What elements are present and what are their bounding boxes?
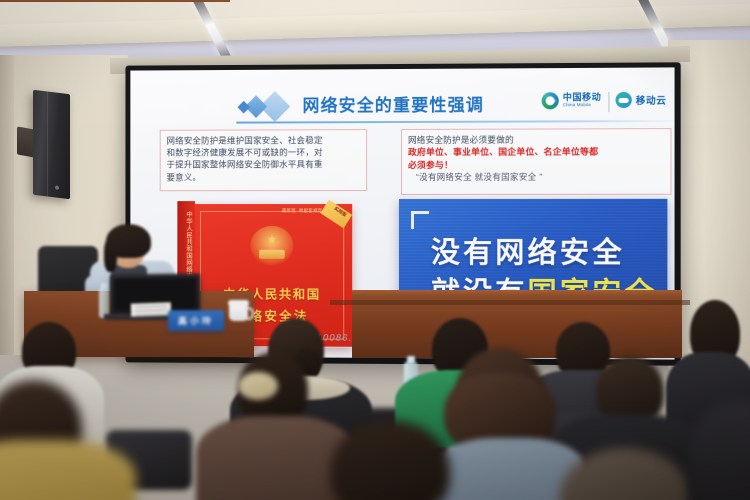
ecloud-logo: 移动云	[615, 92, 666, 108]
china-mobile-name-en: China Mobile	[563, 103, 602, 108]
podium-top-edge	[0, 0, 230, 2]
china-mobile-logo: 中国移动 China Mobile	[542, 92, 602, 109]
title-divider	[236, 120, 674, 124]
left-box-line: 和数字经济健康发展不可或缺的一环，对	[167, 146, 361, 159]
quote-line-1: 没有网络安全	[431, 229, 625, 271]
china-mobile-mark-icon	[542, 92, 559, 109]
right-text-box: 网络安全防护是必须要做的 政府单位、事业单位、国企单位、名企单位等都 必须参与！…	[401, 128, 671, 195]
tea-cup	[229, 304, 248, 321]
presenter-nameplate: 高小玲	[168, 310, 224, 331]
audience-desk	[352, 296, 682, 358]
left-box-line: 要意义。	[167, 171, 361, 183]
logo-divider	[608, 92, 609, 112]
cloud-mark-icon	[615, 92, 631, 108]
bracket-top-left-icon	[411, 211, 429, 229]
audience-member-hair-scrunchie	[238, 372, 278, 400]
conference-room-scene: 网络安全的重要性强调 中国移动 China Mobile 移动云 网络安全防	[0, 0, 750, 500]
china-mobile-name-cn: 中国移动	[563, 93, 602, 102]
ecloud-name: 移动云	[636, 93, 667, 107]
right-box-quote: “没有网络安全 就没有国家安全 ”	[408, 171, 664, 184]
left-box-line: 于提升国家整体网络安全防御水平具有重	[167, 158, 361, 171]
wall-speaker-icon	[33, 90, 70, 200]
national-emblem-icon: ★	[250, 226, 293, 266]
right-box-emphasis-2: 必须参与！	[408, 158, 664, 171]
left-text-box: 网络安全防护是维护国家安全、社会稳定 和数字经济健康发展不可或缺的一环，对 于提…	[160, 129, 367, 191]
paper-sheet	[131, 302, 171, 316]
presenter-name: 高小玲	[178, 314, 214, 327]
right-box-emphasis-1: 政府单位、事业单位、国企单位、名企单位等都	[408, 145, 664, 158]
left-box-line: 网络安全防护是维护国家安全、社会稳定	[167, 134, 361, 147]
book-top-tag: 最新版 ·附配套规定	[282, 208, 322, 214]
desk-ledge	[330, 300, 690, 305]
slide-title: 网络安全的重要性强调	[303, 91, 485, 117]
left-wall-edge	[0, 55, 14, 355]
right-box-intro: 网络安全防护是必须要做的	[408, 133, 664, 146]
